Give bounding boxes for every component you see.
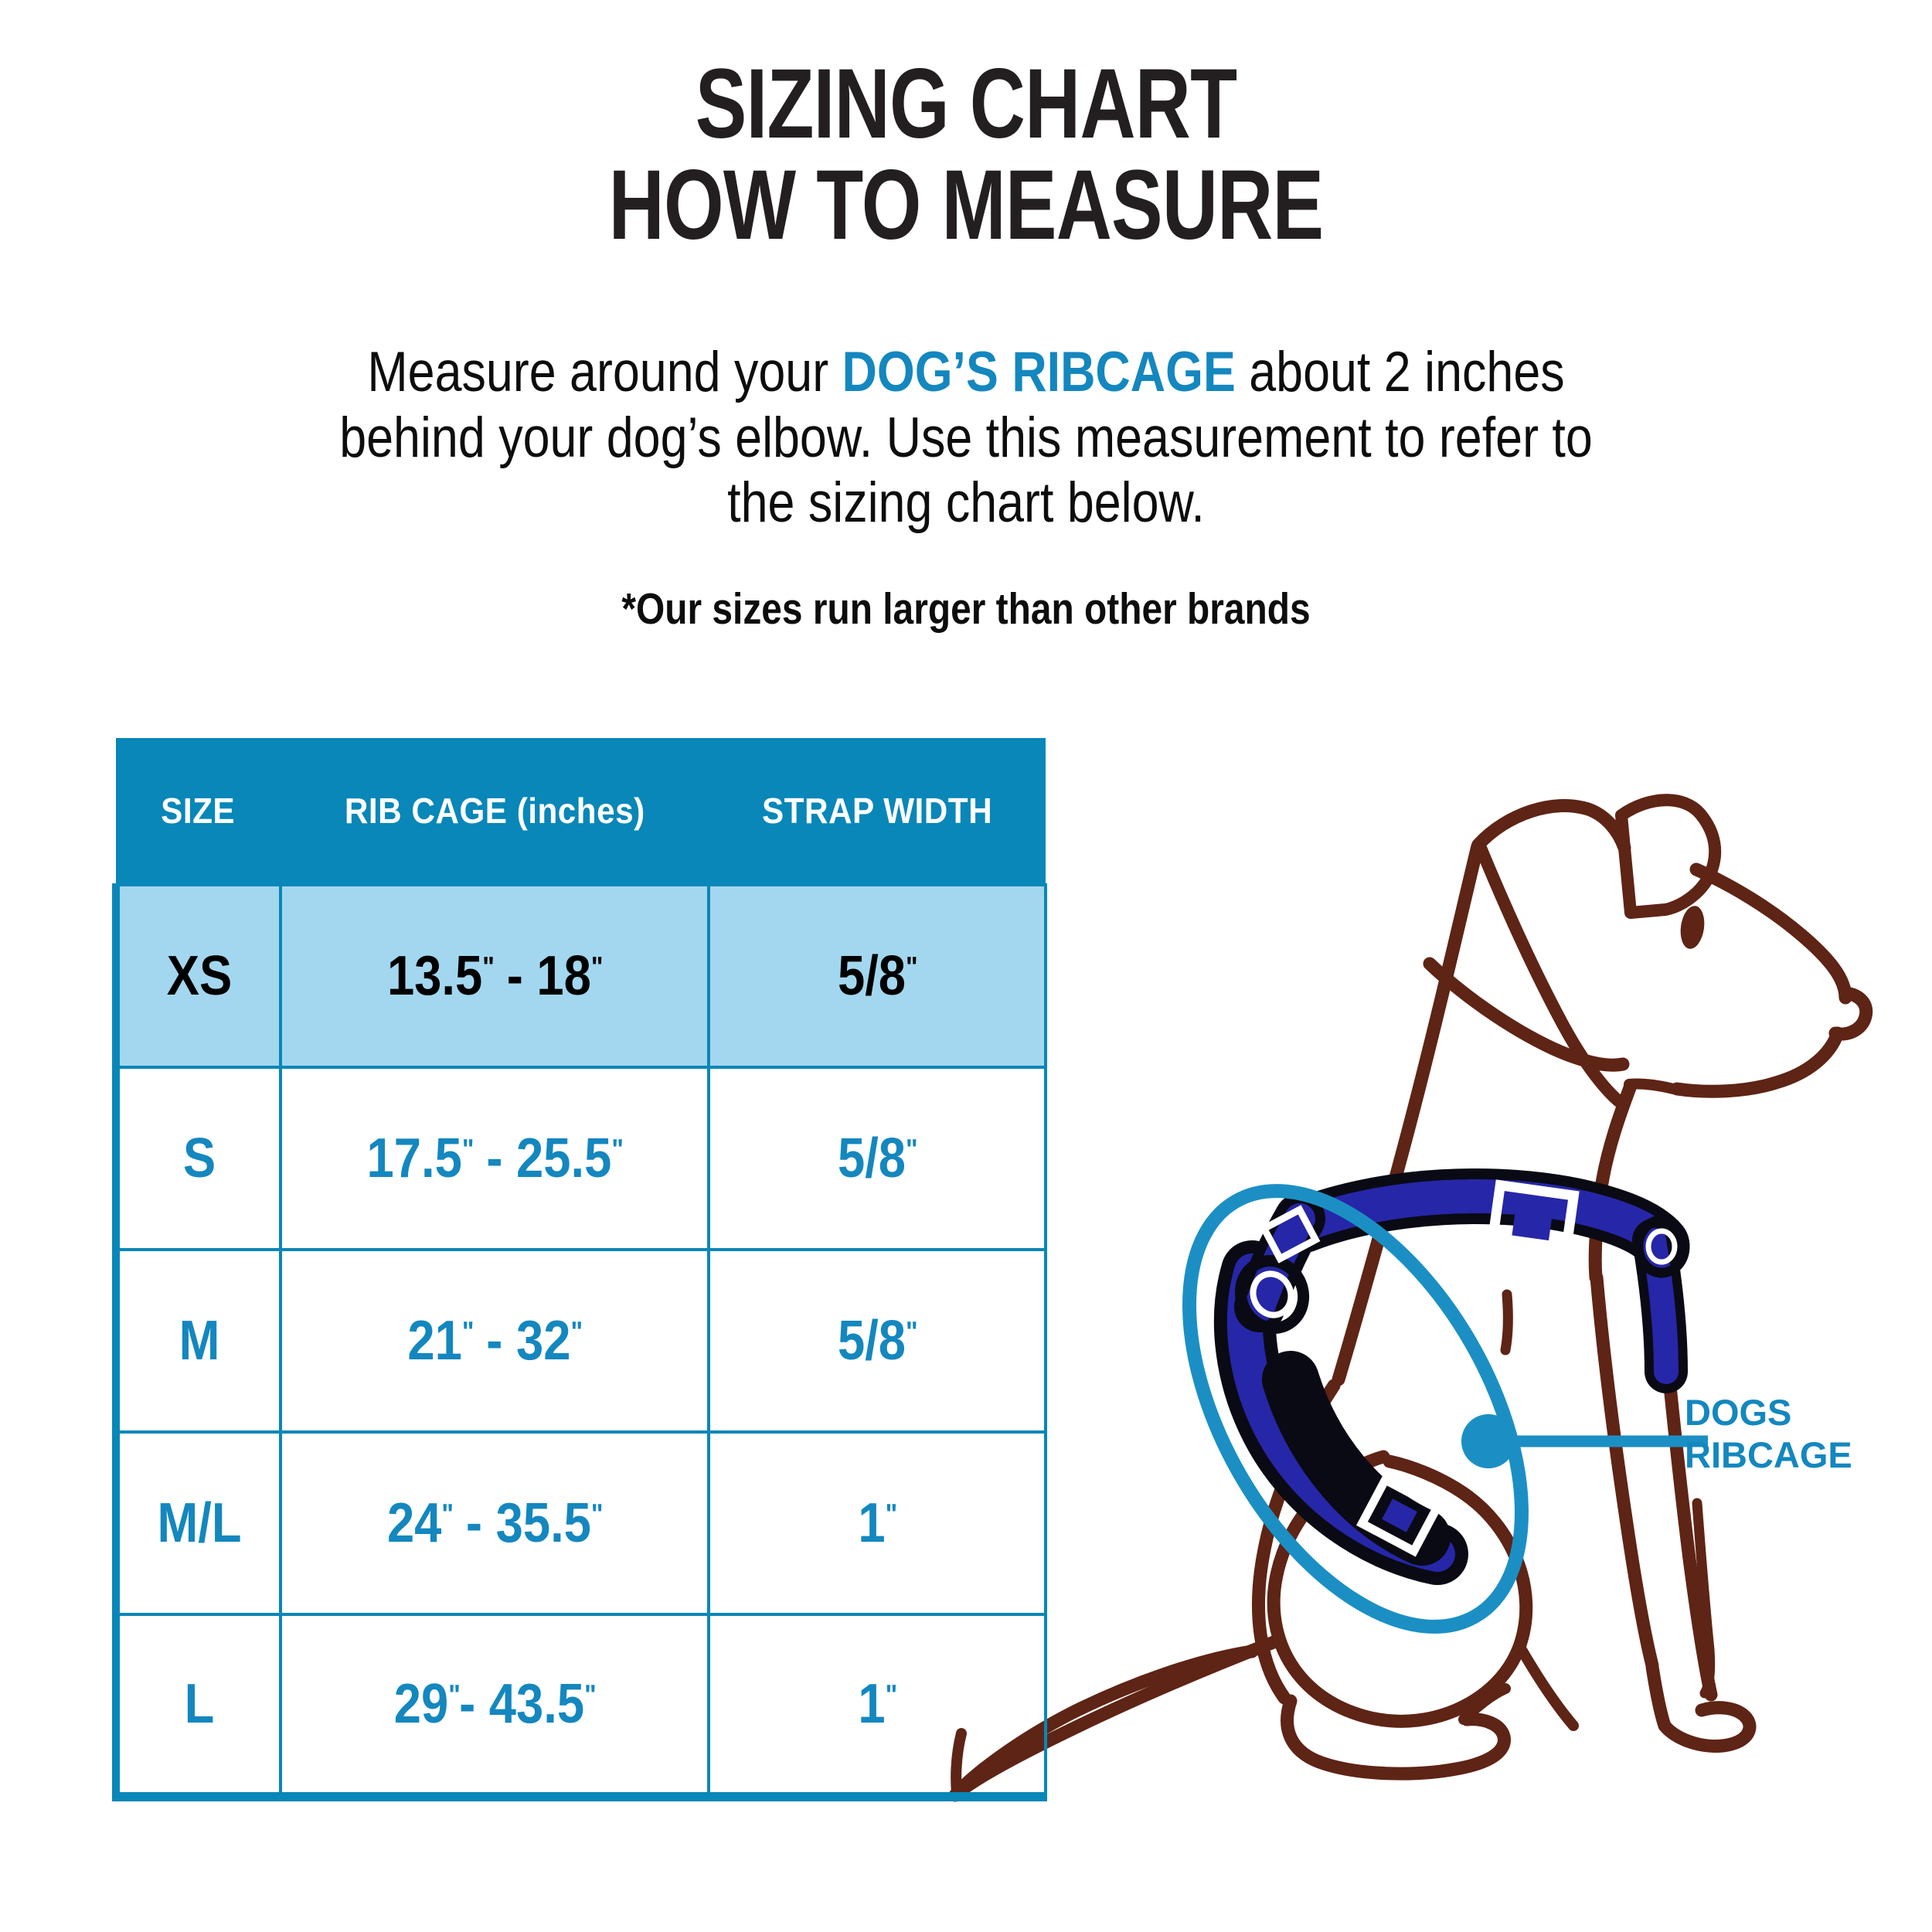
size-cell-value: L	[185, 1672, 215, 1736]
strap-width-cell: 5/8"	[709, 885, 1046, 1067]
strap-width-cell-value: 1"	[858, 1672, 896, 1736]
intro-highlight-dogs-ribcage: DOG’S RIBCAGE	[842, 341, 1236, 403]
rib-cage-cell-value: 17.5" - 25.5"	[367, 1127, 623, 1190]
ribcage-callout-line-2: RIBCAGE	[1685, 1434, 1852, 1476]
page-header: SIZING CHART HOW TO MEASURE	[0, 54, 1932, 256]
strap-width-cell-value: 5/8"	[838, 1309, 917, 1372]
page-title-line-1: SIZING CHART	[213, 54, 1719, 155]
size-cell: M/L	[116, 1432, 281, 1614]
rib-cage-cell: 29"- 43.5"	[281, 1614, 709, 1797]
dog-eye	[1678, 904, 1707, 951]
size-cell: S	[116, 1067, 281, 1250]
ribcage-callout-line-1: DOGS	[1685, 1391, 1852, 1434]
strap-width-cell-value: 5/8"	[838, 944, 917, 1008]
dog-body-outline	[955, 800, 1866, 1795]
column-header-strap-width: STRAP WIDTH	[709, 738, 1046, 885]
strap-width-cell: 5/8"	[709, 1250, 1046, 1432]
ribcage-callout: DOGS RIBCAGE	[1685, 1391, 1852, 1477]
rib-cage-cell-value: 29"- 43.5"	[394, 1672, 595, 1736]
table-row: M/L24" - 35.5"1"	[116, 1432, 1046, 1614]
rib-cage-cell-value: 13.5" - 18"	[387, 944, 602, 1008]
rib-cage-cell: 21" - 32"	[281, 1250, 709, 1432]
table-row: L29"- 43.5"1"	[116, 1614, 1046, 1797]
column-header-size: SIZE	[116, 738, 281, 885]
strap-width-cell: 1"	[709, 1614, 1046, 1797]
intro-paragraph: Measure around your DOG’S RIBCAGE about …	[301, 340, 1631, 536]
rib-cage-cell: 17.5" - 25.5"	[281, 1067, 709, 1250]
rib-cage-cell: 13.5" - 18"	[281, 885, 709, 1067]
sizing-table: SIZE RIB CAGE (inches) STRAP WIDTH XS13.…	[112, 738, 1047, 1801]
ribcage-leader-dot	[1461, 1414, 1515, 1468]
size-cell-value: S	[183, 1127, 216, 1190]
table-row: XS13.5" - 18"5/8"	[116, 885, 1046, 1067]
rib-cage-cell-value: 21" - 32"	[407, 1309, 581, 1372]
strap-width-cell: 5/8"	[709, 1067, 1046, 1250]
size-cell-value: XS	[167, 944, 233, 1008]
size-cell: M	[116, 1250, 281, 1432]
size-cell: L	[116, 1614, 281, 1797]
column-header-rib-cage: RIB CAGE (inches)	[281, 738, 709, 885]
strap-width-cell: 1"	[709, 1432, 1046, 1614]
size-cell-value: M	[179, 1309, 220, 1372]
sizing-note: *Our sizes run larger than other brands	[155, 583, 1777, 634]
size-cell-value: M/L	[157, 1492, 241, 1555]
table-row: M21" - 32"5/8"	[116, 1250, 1046, 1432]
rib-cage-cell-value: 24" - 35.5"	[387, 1492, 602, 1555]
intro-text-before: Measure around your	[367, 341, 842, 403]
table-header-row: SIZE RIB CAGE (inches) STRAP WIDTH	[116, 738, 1046, 885]
rib-cage-cell: 24" - 35.5"	[281, 1432, 709, 1614]
page-title-line-2: HOW TO MEASURE	[213, 155, 1719, 257]
strap-width-cell-value: 5/8"	[838, 1127, 917, 1190]
strap-width-cell-value: 1"	[858, 1492, 896, 1555]
size-cell: XS	[116, 885, 281, 1067]
table-row: S17.5" - 25.5"5/8"	[116, 1067, 1046, 1250]
